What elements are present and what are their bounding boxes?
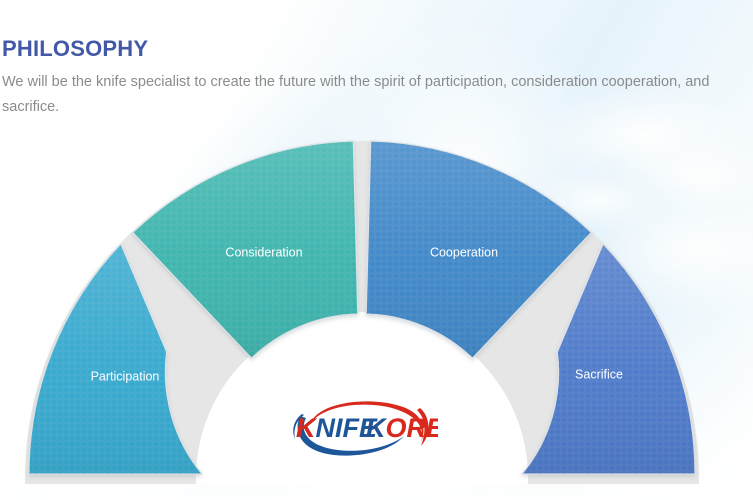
logo-accent-k-red: K <box>296 413 318 443</box>
logo-accent-k-blue: K <box>366 413 388 443</box>
segment-label-participation: Participation <box>91 369 160 383</box>
segment-label-consideration: Consideration <box>225 245 302 259</box>
knife-korea-logo: KNIFE KOREA K K <box>288 394 438 464</box>
segment-label-sacrifice: Sacrifice <box>575 367 623 381</box>
segment-label-cooperation: Cooperation <box>430 245 498 259</box>
